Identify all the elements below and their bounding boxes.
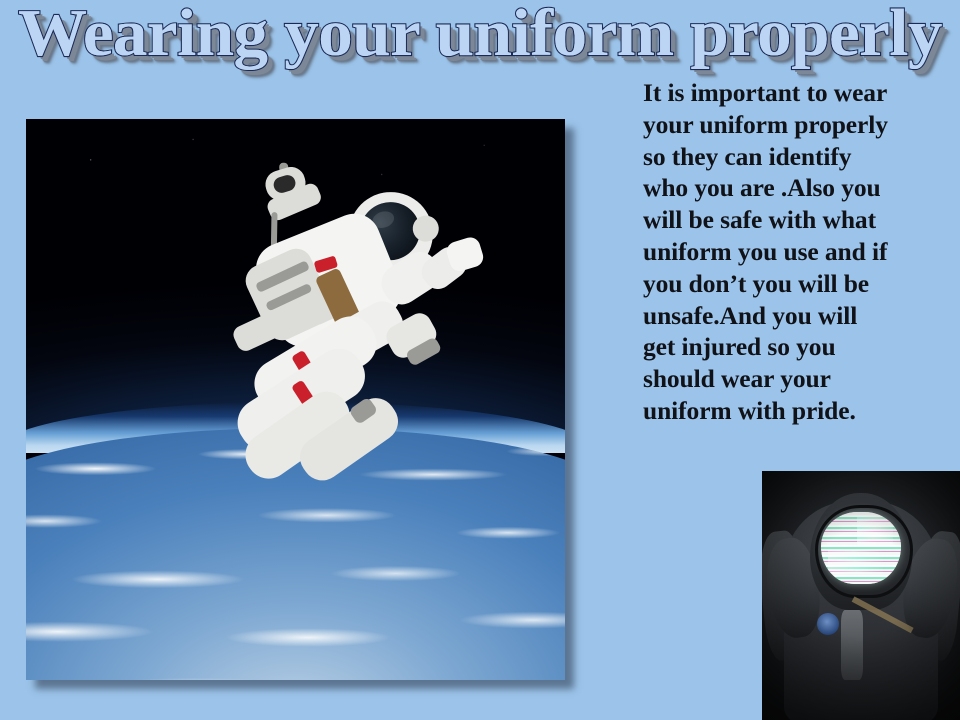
glitch-helmet-astronaut-photo [762, 471, 960, 720]
title-fill-layer: Wearing your uniform properly [0, 0, 960, 74]
astronaut-spacewalk-photo [26, 119, 565, 680]
slide-title: Wearing your uniform properly Wearing yo… [0, 0, 960, 74]
photo-vignette [762, 471, 960, 720]
body-paragraph: It is important to wear your uniform pro… [643, 77, 888, 427]
slide-canvas: Wearing your uniform properly Wearing yo… [0, 0, 960, 720]
